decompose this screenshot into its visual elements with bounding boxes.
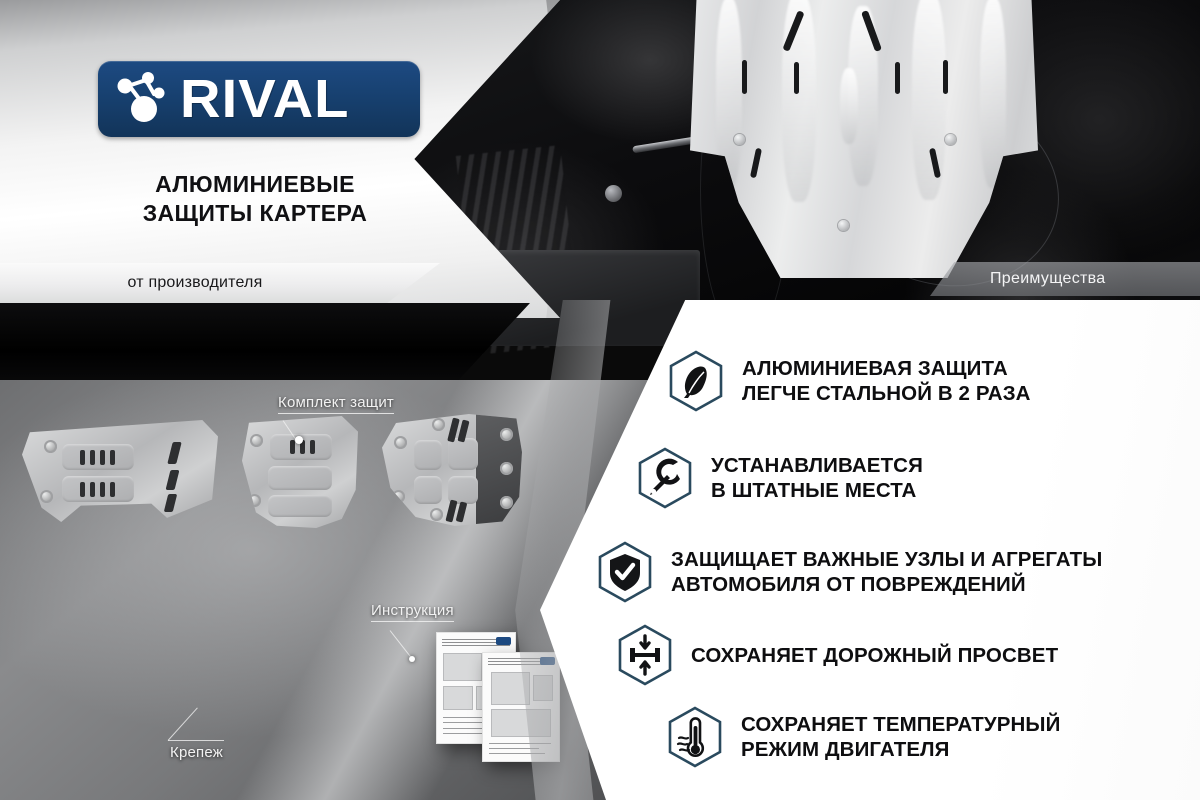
- callout-instruction: Инструкция: [371, 602, 454, 622]
- callout-kit: Комплект защит: [278, 394, 394, 414]
- poster-root: Преимущества RIVAL АЛЮМИНИЕВЫЕ ЗАЩИТЫ КА…: [0, 0, 1200, 800]
- skid-plate-3: [382, 414, 522, 526]
- ball-joint-detail: [605, 185, 622, 202]
- callout-dot-kit: [295, 436, 303, 444]
- feature-item-2: ЗАЩИЩАЕТ ВАЖНЫЕ УЗЛЫ И АГРЕГАТЫ АВТОМОБИ…: [597, 541, 1102, 603]
- subtitle-bar: от производителя: [0, 263, 440, 303]
- rival-logo-text: RIVAL: [180, 72, 350, 126]
- rival-logo: RIVAL: [98, 61, 420, 137]
- feature-item-4: СОХРАНЯЕТ ТЕМПЕРАТУРНЫЙ РЕЖИМ ДВИГАТЕЛЯ: [667, 706, 1060, 768]
- molecule-icon: [110, 68, 184, 130]
- feature-label-1: УСТАНАВЛИВАЕТСЯ В ШТАТНЫЕ МЕСТА: [711, 453, 923, 503]
- feature-item-0: АЛЮМИНИЕВАЯ ЗАЩИТА ЛЕГЧЕ СТАЛЬНОЙ В 2 РА…: [668, 350, 1031, 412]
- subtitle-text: от производителя: [0, 274, 390, 292]
- page-title: АЛЮМИНИЕВЫЕ ЗАЩИТЫ КАРТЕРА: [0, 170, 510, 229]
- feature-item-3: СОХРАНЯЕТ ДОРОЖНЫЙ ПРОСВЕТ: [617, 624, 1058, 686]
- leader-line-instruction: [390, 630, 413, 659]
- page-title-line2: ЗАЩИТЫ КАРТЕРА: [0, 199, 510, 228]
- divider-black-band: [0, 303, 530, 383]
- shield-check-icon: [597, 541, 653, 603]
- callout-fasteners: Крепеж: [170, 744, 223, 761]
- feature-label-4: СОХРАНЯЕТ ТЕМПЕРАТУРНЫЙ РЕЖИМ ДВИГАТЕЛЯ: [741, 712, 1060, 762]
- leader-line-fasteners-d: [168, 707, 198, 740]
- advantages-tab: Преимущества: [930, 262, 1200, 296]
- thermometer-icon: [667, 706, 723, 768]
- wrench-icon: [637, 447, 693, 509]
- leader-line-fasteners-h: [168, 740, 224, 741]
- feather-icon: [668, 350, 724, 412]
- feature-label-0: АЛЮМИНИЕВАЯ ЗАЩИТА ЛЕГЧЕ СТАЛЬНОЙ В 2 РА…: [742, 356, 1031, 406]
- skid-plate-2: [242, 416, 358, 528]
- feature-label-2: ЗАЩИЩАЕТ ВАЖНЫЕ УЗЛЫ И АГРЕГАТЫ АВТОМОБИ…: [671, 547, 1102, 597]
- page-title-line1: АЛЮМИНИЕВЫЕ: [0, 170, 510, 199]
- feature-item-1: УСТАНАВЛИВАЕТСЯ В ШТАТНЫЕ МЕСТА: [637, 447, 923, 509]
- skid-plate-1: [22, 420, 218, 522]
- advantages-tab-label: Преимущества: [990, 270, 1105, 288]
- feature-label-3: СОХРАНЯЕТ ДОРОЖНЫЙ ПРОСВЕТ: [691, 643, 1058, 668]
- callout-dot-instruction: [409, 656, 415, 662]
- ground-clearance-icon: [617, 624, 673, 686]
